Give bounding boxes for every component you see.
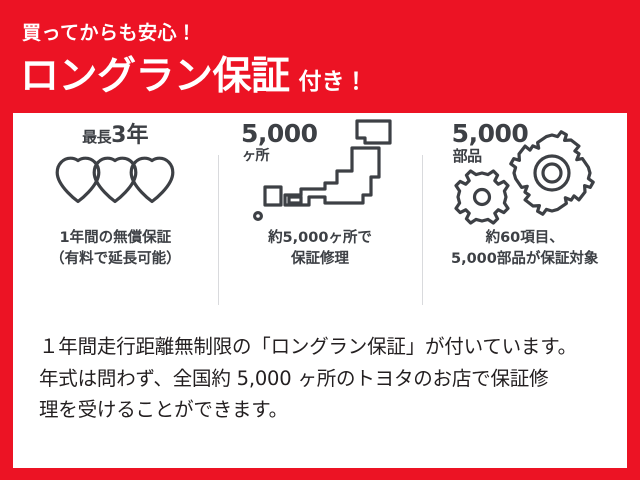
feature-2-icon-block: 5,000 ヶ所 bbox=[218, 113, 423, 228]
feature-2-caption: 約5,000ヶ所で 保証修理 bbox=[268, 228, 372, 270]
description-line-2: 年式は問わず、全国約 5,000 ヶ所のトヨタのお店で保証修 bbox=[39, 363, 609, 395]
header-title: ロングラン保証 付き！ bbox=[20, 57, 368, 96]
feature-covered-parts: 5,000 部品 約60項目、 5,000部品が保証対象 bbox=[422, 113, 627, 318]
content-panel: 最長3年 1年間の無償保証 （有料で延長可能） bbox=[13, 113, 627, 468]
feature-1-caption: 1年間の無償保証 （有料で延長可能） bbox=[50, 228, 181, 270]
feature-1-icon-block: 最長3年 bbox=[13, 113, 218, 228]
header-kicker: 買ってからも安心！ bbox=[22, 24, 197, 43]
feature-1-caption-line2: （有料で延長可能） bbox=[50, 249, 181, 270]
description-line-1: １年間走行距離無制限の「ロングラン保証」が付いています。 bbox=[39, 331, 609, 363]
feature-1-caption-line1: 1年間の無償保証 bbox=[50, 228, 181, 249]
description-line-3: 理を受けることができます。 bbox=[39, 394, 609, 426]
feature-3-caption-line2: 5,000部品が保証対象 bbox=[451, 249, 598, 270]
max-years-badge: 最長3年 bbox=[20, 125, 210, 147]
feature-warranty-period: 最長3年 1年間の無償保証 （有料で延長可能） bbox=[13, 113, 218, 318]
feature-service-locations: 5,000 ヶ所 約5,000ヶ所で 保証修理 bbox=[218, 113, 423, 318]
parts-count-value: 5,000 bbox=[452, 121, 529, 146]
header-title-main: ロングラン保証 bbox=[20, 57, 290, 96]
feature-3-icon-block: 5,000 部品 bbox=[422, 113, 627, 228]
header-title-suffix: 付き！ bbox=[299, 71, 368, 94]
feature-2-caption-line2: 保証修理 bbox=[268, 249, 372, 270]
poster-header: 買ってからも安心！ ロングラン保証 付き！ bbox=[0, 0, 640, 113]
feature-3-caption-line1: 約60項目、 bbox=[451, 228, 598, 249]
parts-count-unit: 部品 bbox=[453, 149, 482, 164]
description-text: １年間走行距離無制限の「ロングラン保証」が付いています。 年式は問わず、全国約 … bbox=[39, 331, 609, 426]
locations-count-value: 5,000 bbox=[241, 121, 318, 146]
max-years-prefix: 最長 bbox=[82, 128, 111, 146]
three-hearts-icon bbox=[54, 151, 176, 209]
locations-count-unit: ヶ所 bbox=[242, 149, 269, 163]
longrun-warranty-poster: 買ってからも安心！ ロングラン保証 付き！ 最長3年 bbox=[0, 0, 640, 480]
feature-2-caption-line1: 約5,000ヶ所で bbox=[268, 228, 372, 249]
feature-3-caption: 約60項目、 5,000部品が保証対象 bbox=[451, 228, 598, 270]
max-years-value: 3年 bbox=[111, 123, 148, 148]
feature-row: 最長3年 1年間の無償保証 （有料で延長可能） bbox=[13, 113, 627, 318]
